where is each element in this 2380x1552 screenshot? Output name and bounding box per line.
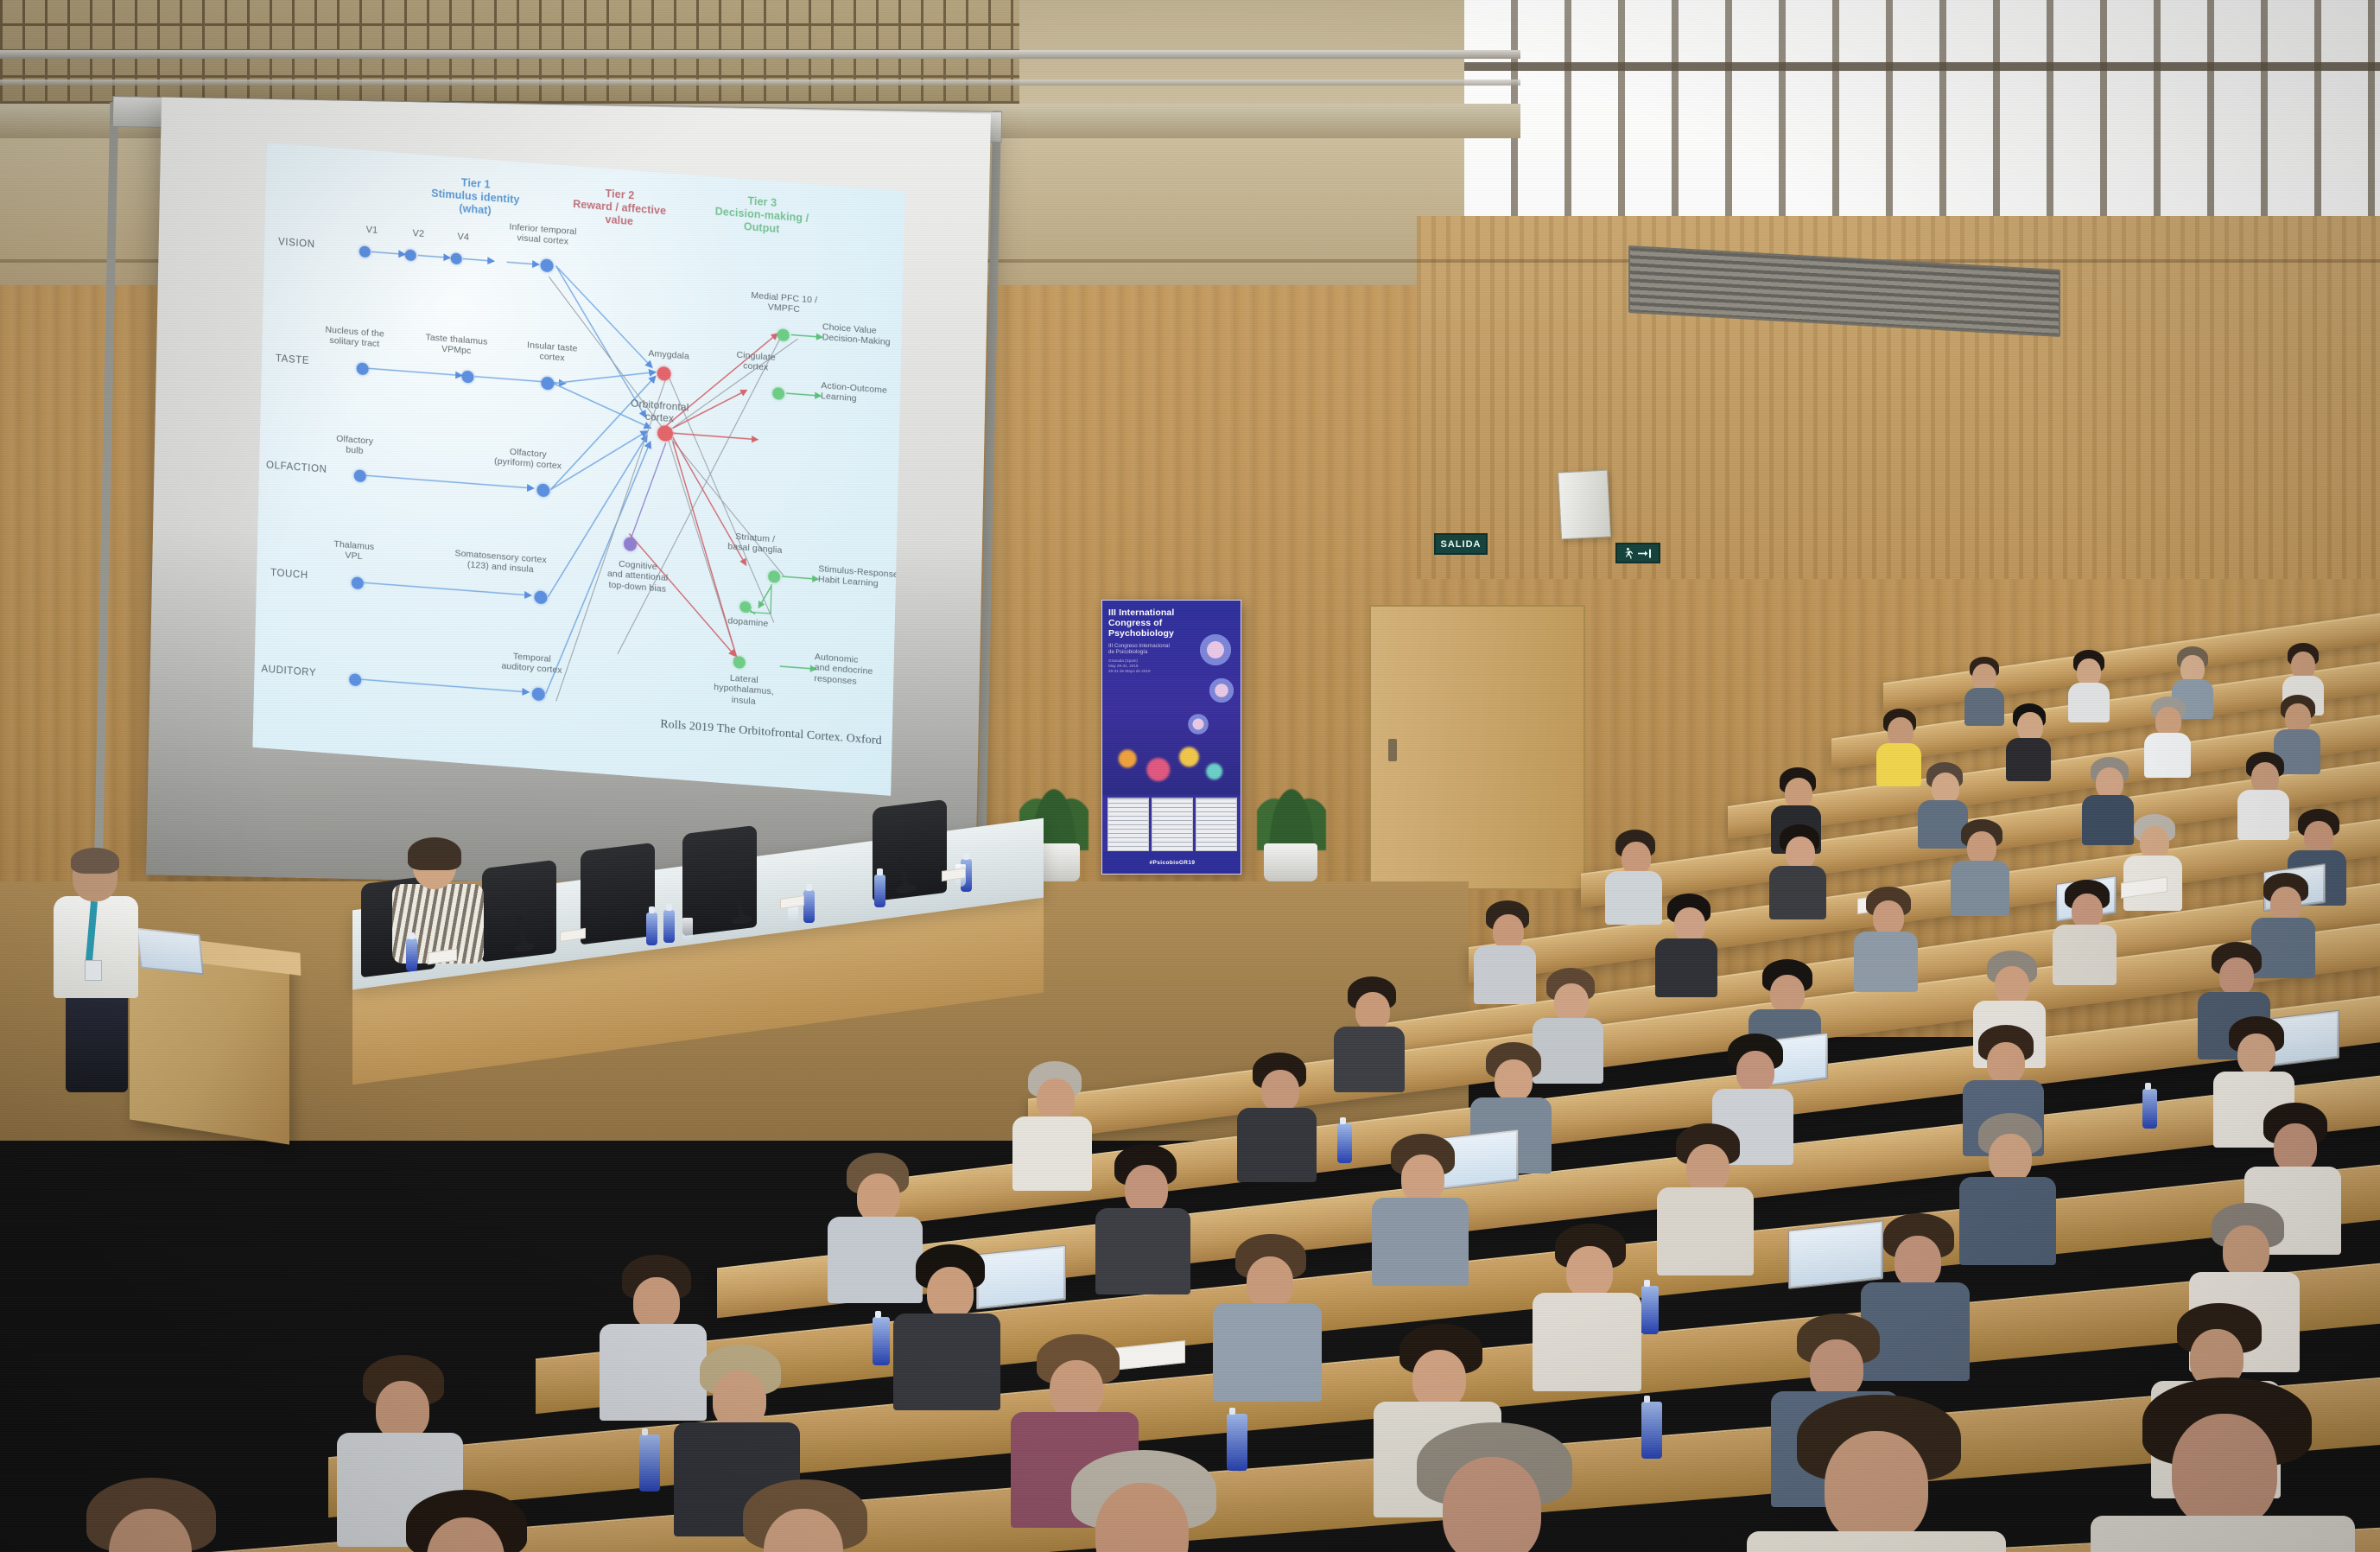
- banner-snowflake-icon: [1196, 630, 1235, 670]
- banner-subtitle-line2: de Psicobiología: [1108, 649, 1147, 655]
- running-man-exit-icon: [1615, 543, 1660, 563]
- water-bottle: [1641, 1286, 1659, 1334]
- label-learning: Learning: [821, 391, 857, 404]
- audience-tablet: [976, 1245, 1066, 1310]
- water-bottle: [1337, 1123, 1352, 1163]
- door-handle[interactable]: [1388, 739, 1397, 761]
- banner-dates-en: May 29-31, 2019: [1108, 664, 1138, 668]
- tier3-line3: Output: [744, 220, 780, 235]
- label-bulb: bulb: [346, 445, 364, 457]
- water-bottle: [639, 1434, 660, 1492]
- modality-taste: TASTE: [276, 353, 309, 368]
- tier1-line3: (what): [459, 202, 492, 217]
- banner-title-line3: Psychobiology: [1108, 628, 1174, 639]
- label-ofc-cortex: cortex: [645, 410, 675, 425]
- water-bottle: [873, 1317, 890, 1365]
- exit-sign-salida: SALIDA: [1434, 533, 1488, 555]
- banner-dates-es: 29-31 de Mayo de 2019: [1108, 669, 1151, 673]
- label-vmpfc: VMPFC: [768, 302, 800, 315]
- water-bottle: [1641, 1402, 1662, 1459]
- lecture-hall-photo: SALIDA: [0, 0, 2380, 1552]
- audience-laptop: [1788, 1220, 1883, 1289]
- banner-title-line2: Congress of: [1108, 618, 1162, 628]
- tier2-label: Tier 2: [605, 188, 634, 202]
- node-auditory-input: [349, 673, 361, 686]
- balcony-rail: [0, 50, 1520, 59]
- banner-title-line1: III International: [1108, 607, 1174, 618]
- label-insular-cortex: cortex: [539, 352, 564, 364]
- banner-cityscape-artwork: [1102, 704, 1241, 795]
- tier1-label: Tier 1: [461, 176, 491, 191]
- label-cingulate-cortex: cortex: [743, 361, 768, 373]
- tier3-label: Tier 3: [747, 194, 777, 209]
- banner-subtitle-line1: III Congreso Internacional: [1108, 643, 1170, 649]
- label-olfactory: Olfactory: [336, 434, 373, 447]
- label-vpl: VPL: [345, 550, 362, 563]
- label-insula: insula: [732, 695, 756, 707]
- water-bottle: [1227, 1414, 1247, 1471]
- auditorium-seating: [0, 830, 2380, 1552]
- banner-snowflake-icon-3: [1185, 711, 1211, 737]
- projected-slide: Tier 1 Stimulus identity (what) Tier 2 R…: [252, 143, 904, 796]
- label-vpmpc: VPMpc: [441, 344, 472, 357]
- balcony-rail-lower: [0, 80, 1520, 86]
- wall-loudspeaker: [1558, 470, 1611, 540]
- water-bottle: [2142, 1089, 2157, 1129]
- banner-snowflake-icon-2: [1206, 675, 1237, 706]
- banner-location: Granada (Spain): [1108, 658, 1138, 663]
- tier2-line3: value: [605, 213, 633, 226]
